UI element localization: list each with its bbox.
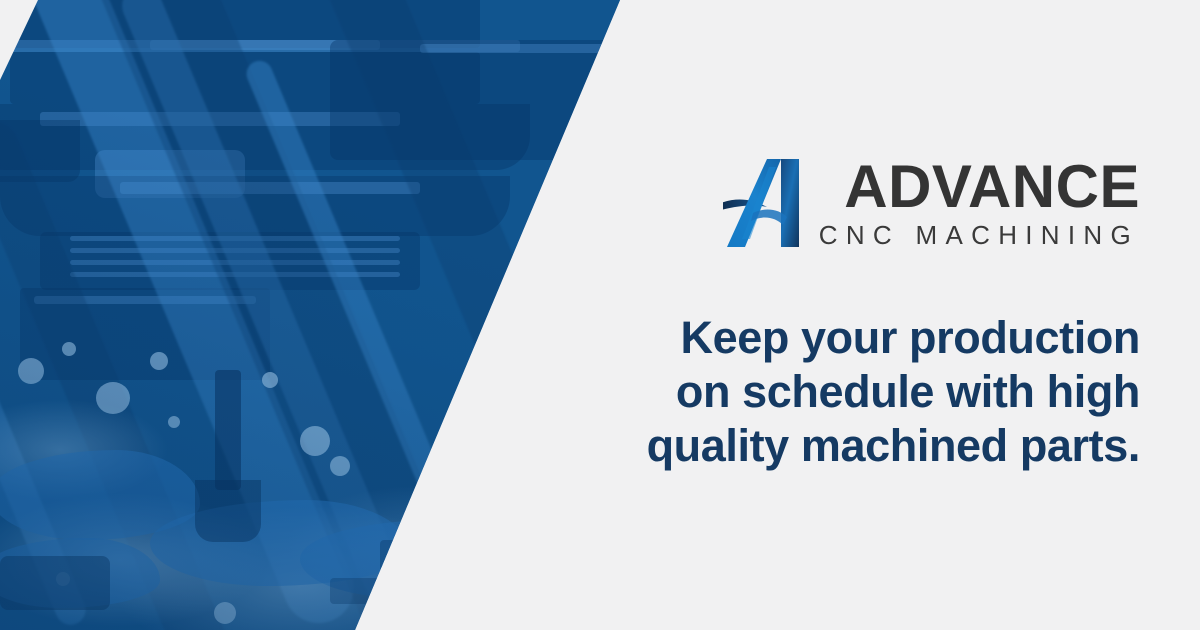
content-panel: ADVANCE CNC MACHINING Keep your producti… (580, 0, 1140, 630)
logo-text-block: ADVANCE CNC MACHINING (819, 158, 1140, 248)
advance-a-mark-icon (723, 157, 805, 249)
headline: Keep your production on schedule with hi… (620, 311, 1140, 473)
cnc-machining-photo (0, 0, 660, 630)
marketing-banner: ADVANCE CNC MACHINING Keep your producti… (0, 0, 1200, 630)
company-logo[interactable]: ADVANCE CNC MACHINING (723, 157, 1140, 249)
photo-vignette (0, 0, 660, 630)
logo-subtitle: CNC MACHINING (819, 222, 1140, 248)
logo-wordmark: ADVANCE (819, 158, 1140, 215)
